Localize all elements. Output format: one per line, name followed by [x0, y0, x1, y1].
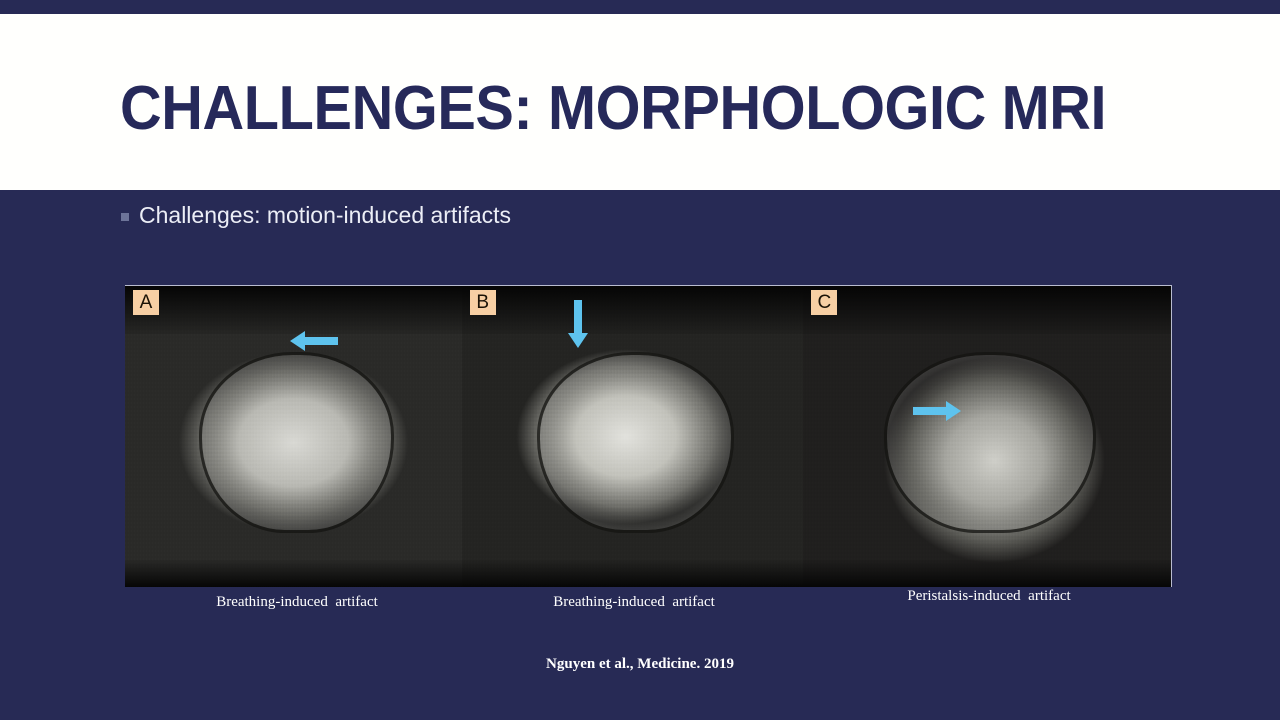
mri-bottom-shadow-c — [803, 560, 1171, 587]
mri-top-shadow-b — [462, 286, 804, 334]
mri-uterus-outline-b — [537, 352, 734, 533]
arrow-right-icon — [911, 398, 963, 424]
source-citation: Nguyen et al., Medicine. 2019 — [0, 654, 1280, 674]
square-bullet-icon — [121, 213, 129, 221]
mri-panel-c: C — [803, 286, 1171, 587]
bullet-item: Challenges: motion-induced artifacts — [121, 201, 511, 229]
panel-caption-c: Peristalsis-induced artifact — [806, 586, 1172, 606]
arrow-left-icon — [288, 328, 340, 354]
slide: Challenges: Morphologic MRI Challenges: … — [0, 0, 1280, 720]
panel-caption-a: Breathing-induced artifact — [125, 592, 469, 612]
panel-label-a: A — [133, 290, 159, 315]
mri-bottom-shadow-b — [462, 560, 804, 587]
mri-figure-strip: A B C — [125, 285, 1172, 587]
mri-uterus-outline-c — [884, 352, 1096, 533]
slide-header-band: Challenges: Morphologic MRI — [0, 14, 1280, 190]
top-accent-bar — [0, 0, 1280, 14]
mri-top-shadow-a — [125, 286, 462, 334]
arrow-down-icon — [565, 298, 591, 350]
mri-panel-a: A — [125, 286, 462, 587]
mri-panel-b: B — [462, 286, 804, 587]
mri-top-shadow-c — [803, 286, 1171, 334]
panel-label-c: C — [811, 290, 837, 315]
slide-body: Challenges: motion-induced artifacts A B — [0, 190, 1280, 720]
panel-caption-b: Breathing-induced artifact — [462, 592, 806, 612]
page-title: Challenges: Morphologic MRI — [120, 72, 1097, 146]
mri-uterus-outline-a — [199, 352, 394, 533]
mri-bottom-shadow-a — [125, 560, 462, 587]
bullet-item-label: Challenges: motion-induced artifacts — [139, 201, 511, 229]
panel-label-b: B — [470, 290, 496, 315]
